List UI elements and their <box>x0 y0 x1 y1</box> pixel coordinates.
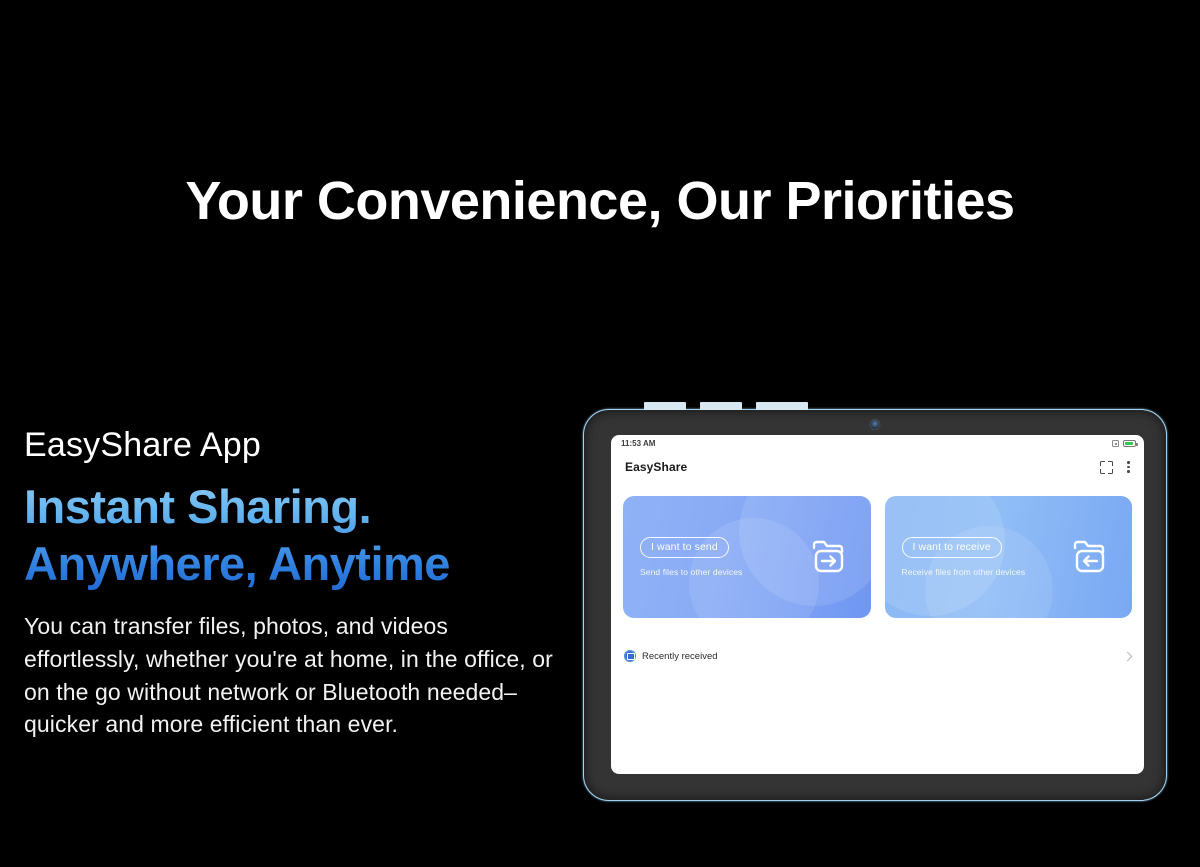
body-paragraph: You can transfer files, photos, and vide… <box>24 610 569 741</box>
chevron-right-icon[interactable] <box>1123 651 1133 661</box>
receive-card-subtitle: Receive files from other devices <box>902 567 1026 577</box>
headline: Instant Sharing. Anywhere, Anytime <box>24 478 564 593</box>
screenshot-icon <box>1112 440 1119 447</box>
folder-arrow-left-icon <box>1070 539 1110 575</box>
app-bar-title: EasyShare <box>625 460 687 474</box>
headline-line-2: Anywhere, Anytime <box>24 535 564 592</box>
status-bar-icons <box>1112 440 1136 447</box>
decorative-blob <box>739 496 871 606</box>
folder-arrow-right-icon <box>809 539 849 575</box>
overflow-menu-icon[interactable] <box>1127 461 1130 473</box>
battery-icon <box>1123 440 1136 447</box>
scan-frame-icon[interactable] <box>1100 461 1113 474</box>
i-want-to-send-button[interactable]: I want to send <box>640 537 729 558</box>
headline-line-1: Instant Sharing. <box>24 480 371 533</box>
app-name-label: EasyShare App <box>24 425 574 466</box>
i-want-to-receive-button[interactable]: I want to receive <box>902 537 1002 558</box>
status-bar: 11:53 AM <box>611 435 1144 452</box>
volume-up-button[interactable] <box>644 402 686 410</box>
receive-card-body: I want to receive Receive files from oth… <box>885 537 1026 577</box>
recently-received-icon <box>624 650 636 662</box>
recently-received-left: Recently received <box>624 650 718 662</box>
power-button[interactable] <box>756 402 808 410</box>
send-card-subtitle: Send files to other devices <box>640 567 742 577</box>
send-card-body: I want to send Send files to other devic… <box>623 537 742 577</box>
tablet-device: 11:53 AM EasyShare <box>583 409 1167 801</box>
app-bar: EasyShare <box>611 452 1144 482</box>
device-screen: 11:53 AM EasyShare <box>611 435 1144 774</box>
page-title: Your Convenience, Our Priorities <box>0 172 1200 231</box>
status-bar-time: 11:53 AM <box>621 439 655 448</box>
receive-card[interactable]: I want to receive Receive files from oth… <box>885 496 1133 618</box>
promo-banner: Your Convenience, Our Priorities EasySha… <box>0 0 1200 867</box>
front-camera-icon <box>870 419 881 430</box>
action-cards: I want to send Send files to other devic… <box>611 482 1144 618</box>
copy-column: EasyShare App Instant Sharing. Anywhere,… <box>24 425 574 741</box>
volume-down-button[interactable] <box>700 402 742 410</box>
recently-received-row[interactable]: Recently received <box>624 644 1131 662</box>
recently-received-label: Recently received <box>642 651 718 662</box>
device-top-buttons <box>644 402 814 410</box>
app-bar-actions <box>1100 461 1130 474</box>
send-card[interactable]: I want to send Send files to other devic… <box>623 496 871 618</box>
